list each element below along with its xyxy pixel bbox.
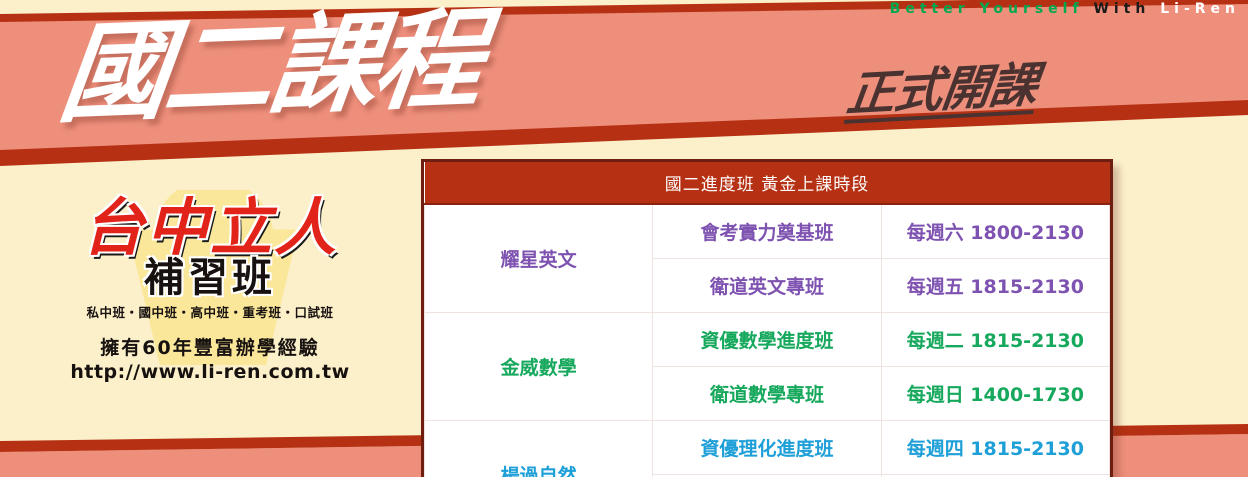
page-title: 國二課程 [54, 6, 485, 130]
promo-banner: Better Yourself With Li-Ren 國二課程 正式開課 台中… [0, 0, 1248, 477]
tagline-word-with: With [1093, 1, 1150, 17]
schedule-title: 國二進度班 黃金上課時段 [425, 162, 1110, 204]
time-cell: 每週日 1400-1730 [881, 367, 1109, 421]
teacher-cell: 楊過自然 [425, 421, 653, 477]
logo-experience: 擁有60年豐富辦學經驗 [30, 333, 390, 360]
schedule-table: 國二進度班 黃金上課時段 耀星英文會考實力奠基班每週六 1800-2130衛道英… [424, 162, 1110, 477]
page-subtitle: 正式開課 [844, 61, 1039, 119]
time-cell: 每週二 1815-2130 [881, 313, 1109, 367]
course-cell: 衛道數學專班 [653, 367, 881, 421]
tagline-word-better: Better [890, 1, 970, 17]
course-cell: 資優理化進度班 [653, 421, 881, 475]
course-cell: 資優數學進度班 [653, 313, 881, 367]
course-cell: 衛道英文專班 [653, 259, 881, 313]
tagline-word-yourself: Yourself [980, 1, 1084, 17]
time-cell: 每週五 1815-2130 [881, 259, 1109, 313]
table-row: 楊過自然資優理化進度班每週四 1815-2130 [425, 421, 1110, 475]
schedule-table-container: 國二進度班 黃金上課時段 耀星英文會考實力奠基班每週六 1800-2130衛道英… [421, 159, 1113, 477]
logo: 台中立人 補習班 私中班・國中班・高中班・重考班・口試班 擁有60年豐富辦學經驗… [30, 196, 390, 383]
tagline-word-liren: Li-Ren [1160, 1, 1240, 17]
teacher-cell: 金威數學 [425, 313, 653, 421]
table-header-row: 國二進度班 黃金上課時段 [425, 162, 1110, 204]
logo-school-name: 台中立人 [30, 196, 390, 260]
course-cell: 會考實力奠基班 [653, 204, 881, 259]
logo-class-list: 私中班・國中班・高中班・重考班・口試班 [30, 302, 390, 321]
tagline: Better Yourself With Li-Ren [890, 1, 1240, 17]
time-cell: 每週六 1800-2130 [881, 204, 1109, 259]
logo-school-type: 補習班 [30, 256, 390, 300]
logo-website-url[interactable]: http://www.li-ren.com.tw [30, 361, 390, 383]
time-cell: 每週四 1815-2130 [881, 421, 1109, 475]
table-row: 耀星英文會考實力奠基班每週六 1800-2130 [425, 204, 1110, 259]
schedule-body: 耀星英文會考實力奠基班每週六 1800-2130衛道英文專班每週五 1815-2… [425, 204, 1110, 477]
table-row: 金威數學資優數學進度班每週二 1815-2130 [425, 313, 1110, 367]
teacher-cell: 耀星英文 [425, 204, 653, 313]
